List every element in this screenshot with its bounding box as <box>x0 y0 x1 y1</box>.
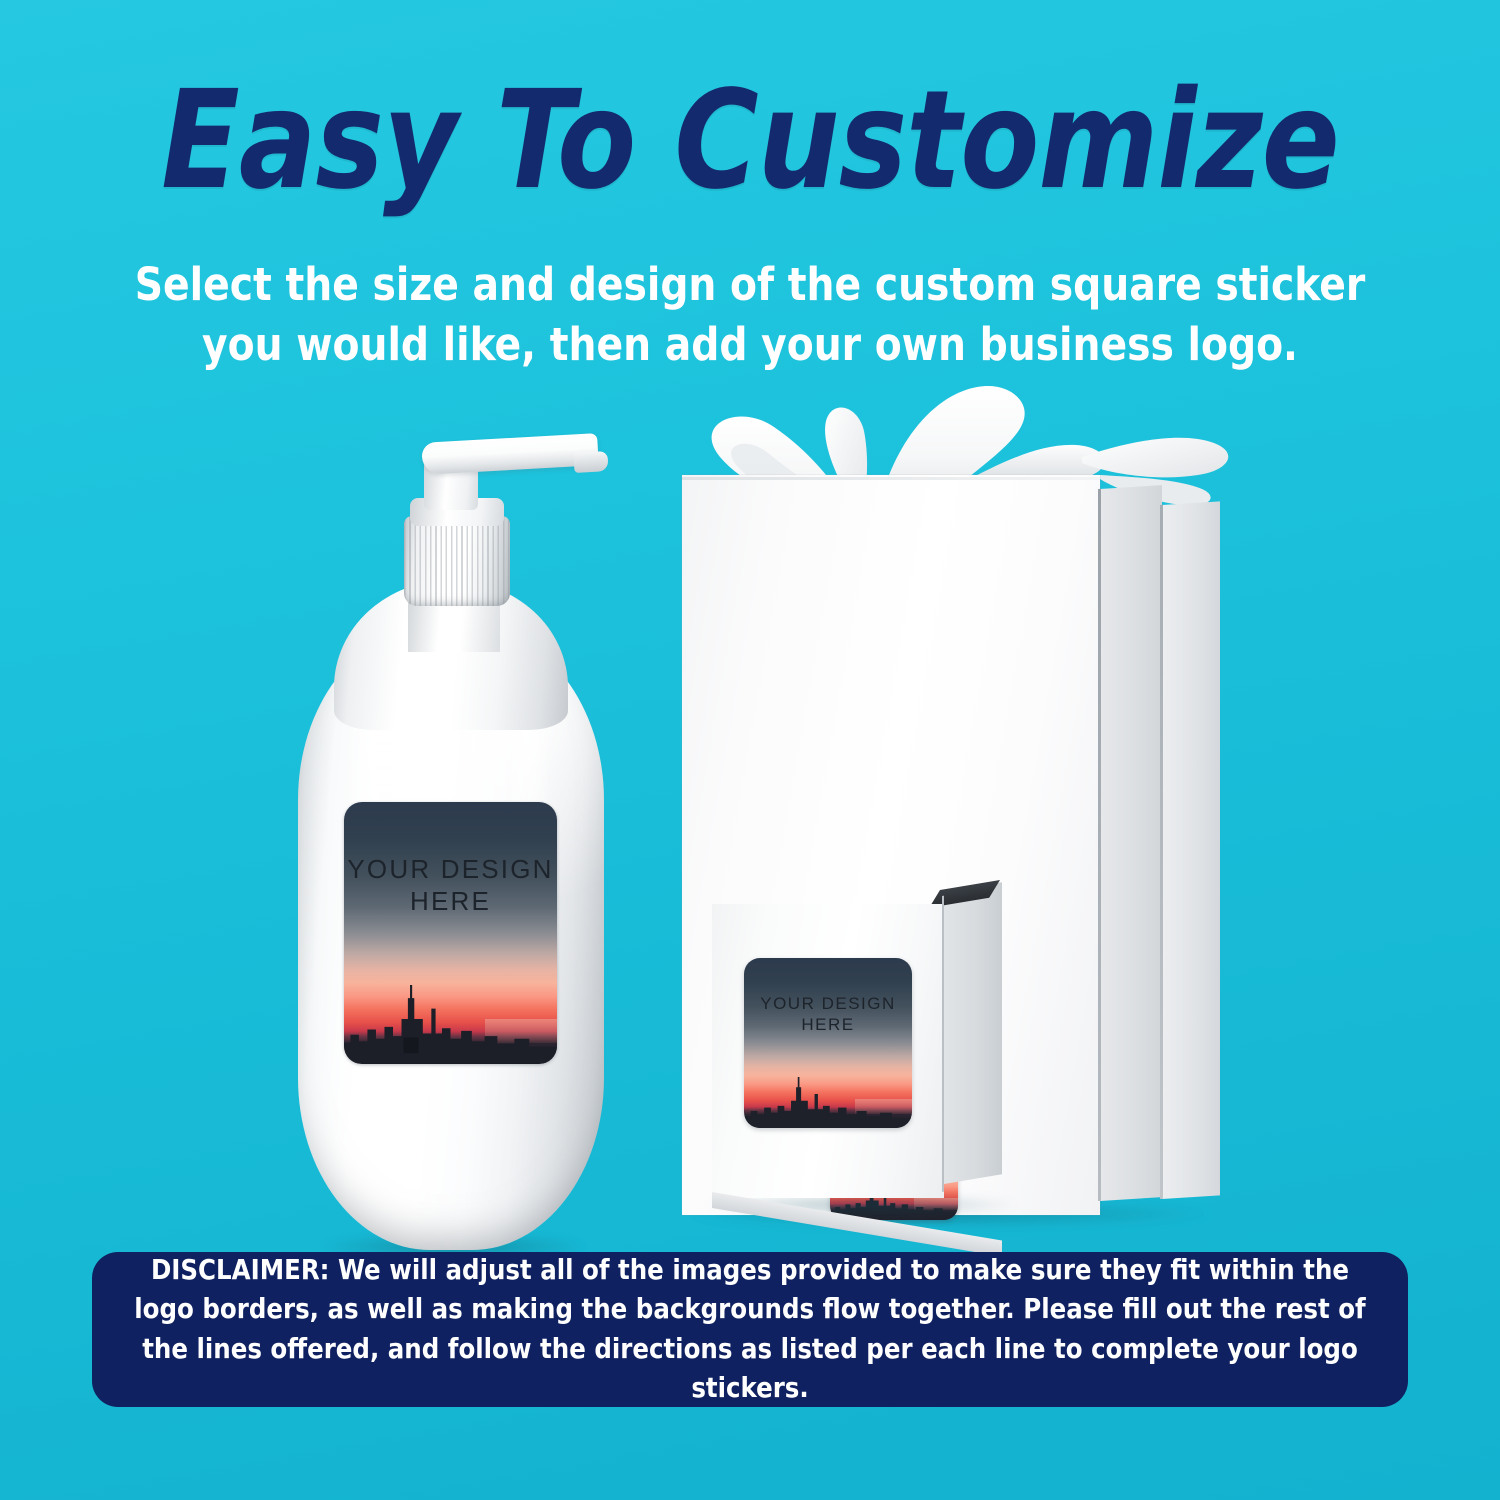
sticker-sb-skyline-icon <box>744 1077 912 1128</box>
pump-bottle: YOUR DESIGN HERE <box>298 420 604 1250</box>
bottle-pump-collar <box>404 516 510 606</box>
disclaimer-box: DISCLAIMER: We will adjust all of the im… <box>92 1252 1408 1407</box>
gift-box-back-side-face <box>1162 501 1220 1199</box>
page-subtitle: Select the size and design of the custom… <box>129 255 1371 376</box>
product-scene: YOUR DESIGN HERE YOUR DESIGN HERE <box>0 380 1500 1240</box>
gift-box-back-corner-seam <box>1160 505 1163 1199</box>
sticker-sb-text: YOUR DESIGN HERE <box>744 994 912 1035</box>
disclaimer-label: DISCLAIMER: <box>151 1254 330 1286</box>
bottle-pump-spout[interactable] <box>421 433 599 475</box>
sticker-bottle-skyline-icon <box>344 985 557 1064</box>
bottle-pump-spout-tip <box>573 451 608 473</box>
subtitle-line-2: you would like, then add your own busine… <box>129 315 1371 375</box>
page-title: Easy To Customize <box>45 70 1455 213</box>
sticker-on-small-box[interactable]: YOUR DESIGN HERE <box>744 958 912 1128</box>
subtitle-line-1: Select the size and design of the custom… <box>129 255 1371 315</box>
small-box-corner-edge <box>942 896 944 1192</box>
gift-box-lid-seam <box>682 477 1100 480</box>
gift-box-side-face <box>1100 485 1162 1201</box>
sticker-on-bottle[interactable]: YOUR DESIGN HERE <box>344 802 557 1064</box>
gift-box-corner-seam <box>1098 489 1101 1201</box>
sticker-bottle-text: YOUR DESIGN HERE <box>344 854 557 917</box>
disclaimer-text: DISCLAIMER: We will adjust all of the im… <box>99 1251 1402 1407</box>
small-box-side-face <box>944 882 1002 1184</box>
small-box: YOUR DESIGN HERE <box>712 892 1012 1202</box>
